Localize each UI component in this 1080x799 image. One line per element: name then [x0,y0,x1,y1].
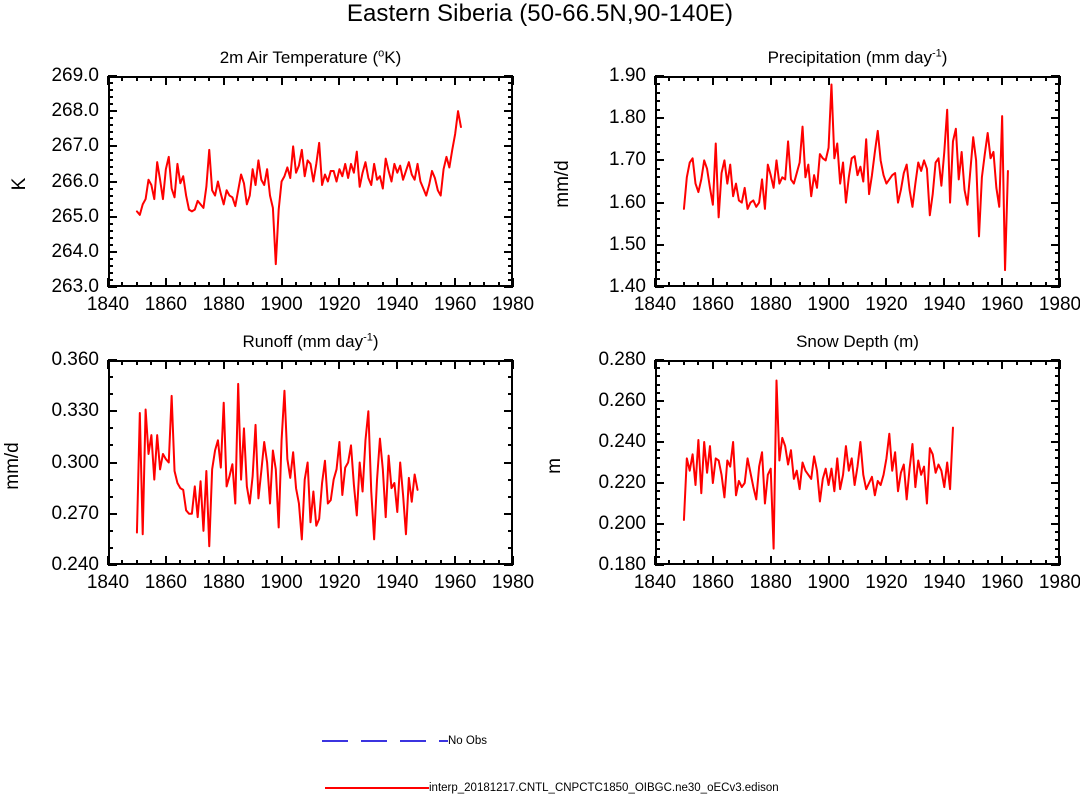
y-tick-minor [108,237,113,239]
x-tick-label: 1920 [318,294,360,316]
x-tick-major [454,278,456,287]
x-tick-minor [121,360,123,365]
x-tick-minor [958,360,960,365]
y-tick-label: 264.0 [51,241,99,263]
x-tick-minor [208,360,210,365]
y-tick-minor [655,466,660,468]
x-tick-minor [121,560,123,565]
x-tick-minor [469,282,471,287]
y-tick-minor [108,124,113,126]
x-tick-major [828,556,830,565]
x-tick-minor [382,360,384,365]
x-tick-minor [353,560,355,565]
x-tick-minor [813,282,815,287]
x-tick-major [770,76,772,85]
x-tick-minor [900,360,902,365]
y-tick-minor [1055,515,1060,517]
x-tick-major [454,76,456,85]
x-tick-minor [469,76,471,81]
x-tick-minor [483,282,485,287]
x-tick-minor [266,76,268,81]
y-tick-minor [508,103,513,105]
y-tick-minor [508,124,513,126]
panel-title-snow-depth: Snow Depth (m) [655,332,1060,352]
x-tick-minor [136,560,138,565]
x-tick-label: 1860 [692,572,734,594]
y-tick-minor [1055,143,1060,145]
x-tick-minor [150,282,152,287]
y-tick-minor [655,235,660,237]
y-tick-minor [508,444,513,446]
y-tick-minor [508,117,513,119]
x-tick-label: 1960 [434,294,476,316]
y-tick-label: 1.70 [609,149,646,171]
x-tick-major [885,556,887,565]
x-tick-minor [425,282,427,287]
y-tick-minor [1055,193,1060,195]
x-tick-minor [668,282,670,287]
y-tick-minor [655,449,660,451]
x-tick-minor [295,76,297,81]
legend-entry-no-obs: No Obs [322,735,487,747]
y-tick-minor [508,258,513,260]
y-tick-minor [655,210,660,212]
y-tick-minor [655,252,660,254]
y-tick-minor [508,159,513,161]
x-tick-minor [900,282,902,287]
x-tick-minor [310,360,312,365]
y-tick-minor [1055,168,1060,170]
x-tick-label: 1900 [260,294,302,316]
y-tick-minor [655,392,660,394]
x-tick-label: 1960 [981,572,1023,594]
x-tick-major [712,76,714,85]
y-tick-major [655,482,664,484]
y-tick-minor [1055,392,1060,394]
x-tick-major [165,360,167,369]
x-tick-minor [324,76,326,81]
x-tick-minor [150,560,152,565]
x-tick-minor [900,560,902,565]
x-tick-minor [498,360,500,365]
x-tick-minor [987,282,989,287]
x-tick-minor [1016,560,1018,565]
y-tick-minor [1055,449,1060,451]
y-tick-major [108,359,117,361]
x-tick-label: 1900 [807,294,849,316]
y-tick-minor [1055,100,1060,102]
x-tick-minor [784,76,786,81]
y-tick-minor [508,202,513,204]
y-tick-minor [655,457,660,459]
y-tick-major [655,286,664,288]
x-tick-minor [150,76,152,81]
y-tick-label: 0.300 [51,452,99,474]
panel-precipitation: Precipitation (mm day-1) 1.401.501.601.7… [655,76,1060,287]
x-tick-minor [842,282,844,287]
y-tick-label: 0.240 [598,431,646,453]
x-tick-minor [914,76,916,81]
y-tick-minor [655,193,660,195]
y-tick-minor [655,531,660,533]
x-tick-minor [150,360,152,365]
y-tick-minor [508,393,513,395]
y-tick-minor [655,134,660,136]
y-tick-major [1051,202,1060,204]
y-tick-minor [1055,466,1060,468]
y-tick-major [504,410,513,412]
x-tick-minor [1016,360,1018,365]
y-tick-major [108,145,117,147]
y-tick-minor [108,159,113,161]
y-tick-minor [655,490,660,492]
x-tick-minor [440,560,442,565]
x-tick-minor [799,282,801,287]
y-tick-minor [655,408,660,410]
x-tick-minor [972,560,974,565]
x-tick-major [338,76,340,85]
y-tick-minor [655,100,660,102]
x-tick-major [396,76,398,85]
x-tick-minor [237,76,239,81]
legend-dash-no-obs-2 [361,740,387,742]
figure-root: Eastern Siberia (50-66.5N,90-140E) 2m Ai… [0,0,1080,799]
y-tick-minor [1055,531,1060,533]
y-tick-minor [655,548,660,550]
x-tick-major [828,360,830,369]
y-tick-minor [108,393,113,395]
x-tick-minor [871,76,873,81]
x-tick-minor [958,282,960,287]
x-tick-minor [741,76,743,81]
y-tick-minor [508,272,513,274]
x-tick-minor [1045,360,1047,365]
x-tick-major [107,556,109,565]
y-tick-label: 0.270 [51,503,99,525]
y-tick-minor [508,427,513,429]
y-tick-label: 265.0 [51,206,99,228]
y-tick-minor [1055,218,1060,220]
x-tick-major [512,76,514,85]
x-tick-minor [697,360,699,365]
x-tick-major [223,76,225,85]
y-tick-label: 0.360 [51,349,99,371]
x-tick-minor [929,282,931,287]
y-tick-major [108,286,117,288]
x-tick-minor [208,282,210,287]
x-tick-major [1059,360,1061,369]
x-tick-minor [958,560,960,565]
y-tick-major [504,216,513,218]
legend-line-model-run [325,787,429,789]
x-tick-minor [987,560,989,565]
y-tick-minor [508,223,513,225]
x-tick-label: 1840 [634,294,676,316]
x-tick-minor [755,360,757,365]
x-tick-major [943,76,945,85]
x-tick-minor [842,560,844,565]
x-tick-major [770,278,772,287]
x-tick-major [1059,76,1061,85]
x-tick-minor [411,560,413,565]
y-tick-minor [1055,261,1060,263]
x-tick-label: 1980 [1039,572,1080,594]
y-tick-minor [1055,416,1060,418]
y-tick-label: 0.280 [598,349,646,371]
y-tick-label: 0.330 [51,400,99,422]
x-tick-minor [440,282,442,287]
figure-title: Eastern Siberia (50-66.5N,90-140E) [0,0,1080,28]
x-tick-minor [972,360,974,365]
x-tick-minor [784,360,786,365]
x-tick-label: 1960 [981,294,1023,316]
x-tick-minor [1030,360,1032,365]
panel-runoff: Runoff (mm day-1) 0.2400.2700.3000.3300.… [108,360,513,565]
y-tick-minor [108,96,113,98]
y-tick-minor [655,474,660,476]
y-tick-major [108,410,117,412]
y-tick-minor [508,530,513,532]
y-tick-major [655,202,664,204]
y-tick-minor [108,103,113,105]
x-tick-minor [194,282,196,287]
x-tick-major [1059,278,1061,287]
axis-label-runoff: mm/d [2,431,24,501]
y-tick-minor [108,89,113,91]
y-tick-minor [655,416,660,418]
x-tick-minor [252,360,254,365]
y-tick-minor [108,530,113,532]
x-tick-major [712,360,714,369]
x-tick-major [828,76,830,85]
x-tick-major [512,360,514,369]
x-tick-major [885,278,887,287]
y-tick-minor [655,539,660,541]
x-tick-minor [121,282,123,287]
x-tick-major [885,360,887,369]
x-tick-minor [842,360,844,365]
y-tick-minor [655,498,660,500]
x-tick-minor [683,282,685,287]
y-tick-major [655,244,664,246]
y-tick-minor [108,223,113,225]
x-tick-major [1001,556,1003,565]
x-tick-minor [857,282,859,287]
x-tick-major [454,360,456,369]
x-tick-minor [411,360,413,365]
y-tick-label: 1.60 [609,192,646,214]
x-tick-minor [668,76,670,81]
x-tick-minor [914,360,916,365]
x-tick-minor [683,360,685,365]
x-tick-minor [483,560,485,565]
y-tick-minor [508,138,513,140]
y-tick-major [1051,523,1060,525]
x-tick-minor [353,282,355,287]
y-tick-minor [108,131,113,133]
x-tick-minor [726,282,728,287]
x-tick-label: 1960 [434,572,476,594]
x-tick-minor [295,282,297,287]
y-tick-minor [108,376,113,378]
y-tick-minor [1055,474,1060,476]
axis-label-air-temperature: K [9,154,31,214]
x-tick-minor [1030,282,1032,287]
y-tick-minor [508,496,513,498]
x-tick-minor [1045,76,1047,81]
y-tick-minor [108,427,113,429]
y-tick-major [1051,117,1060,119]
x-tick-minor [179,360,181,365]
y-tick-major [108,181,117,183]
x-tick-minor [668,360,670,365]
y-tick-minor [655,176,660,178]
x-tick-minor [741,282,743,287]
x-tick-minor [382,76,384,81]
x-tick-minor [310,560,312,565]
x-tick-minor [310,76,312,81]
y-tick-minor [655,151,660,153]
x-tick-major [338,360,340,369]
x-tick-minor [914,560,916,565]
x-tick-minor [498,76,500,81]
x-tick-minor [208,560,210,565]
y-tick-minor [108,479,113,481]
x-tick-minor [411,282,413,287]
y-tick-minor [655,185,660,187]
x-tick-major [338,556,340,565]
x-tick-minor [324,360,326,365]
y-tick-major [504,145,513,147]
x-tick-label: 1840 [634,572,676,594]
x-tick-major [654,278,656,287]
x-tick-minor [367,360,369,365]
y-tick-minor [108,202,113,204]
y-tick-minor [1055,252,1060,254]
y-tick-minor [108,547,113,549]
y-tick-major [1051,400,1060,402]
y-tick-minor [108,173,113,175]
y-tick-minor [1055,210,1060,212]
x-tick-major [165,76,167,85]
x-tick-minor [252,282,254,287]
x-tick-minor [726,76,728,81]
x-tick-label: 1980 [492,572,534,594]
x-tick-label: 1940 [923,572,965,594]
x-tick-major [943,278,945,287]
x-tick-minor [353,360,355,365]
x-tick-minor [469,360,471,365]
data-line [137,111,461,264]
x-tick-minor [483,76,485,81]
x-tick-minor [871,560,873,565]
x-tick-major [512,556,514,565]
x-tick-minor [914,282,916,287]
y-tick-minor [508,188,513,190]
y-tick-minor [1055,269,1060,271]
x-tick-minor [237,360,239,365]
y-tick-minor [508,166,513,168]
x-tick-minor [310,282,312,287]
x-tick-minor [929,360,931,365]
y-tick-minor [1055,384,1060,386]
y-tick-minor [508,265,513,267]
y-tick-minor [108,209,113,211]
x-tick-minor [842,76,844,81]
x-tick-minor [755,76,757,81]
x-tick-minor [121,76,123,81]
x-tick-minor [411,76,413,81]
panel-title-runoff: Runoff (mm day-1) [108,332,513,352]
y-tick-minor [508,89,513,91]
y-tick-minor [1055,507,1060,509]
y-tick-major [655,564,664,566]
x-tick-minor [136,360,138,365]
x-tick-minor [208,76,210,81]
x-tick-label: 1840 [87,572,129,594]
y-tick-minor [108,152,113,154]
x-tick-label: 1940 [376,294,418,316]
series-line-air-temperature [108,76,513,287]
y-tick-major [1051,244,1060,246]
x-tick-minor [857,560,859,565]
y-tick-minor [1055,433,1060,435]
x-tick-major [223,360,225,369]
x-tick-label: 1860 [145,294,187,316]
x-tick-minor [726,360,728,365]
y-tick-minor [1055,490,1060,492]
legend-label-model-run: interp_20181217.CNTL_CNPCTC1850_OIBGC.ne… [429,782,779,794]
x-tick-label: 1920 [865,572,907,594]
x-tick-minor [857,360,859,365]
y-tick-major [504,181,513,183]
y-tick-minor [655,425,660,427]
y-tick-minor [508,479,513,481]
x-tick-minor [266,360,268,365]
x-tick-minor [683,560,685,565]
y-tick-major [504,462,513,464]
y-tick-major [1051,159,1060,161]
data-line [684,84,1008,270]
y-tick-minor [108,195,113,197]
x-tick-minor [367,560,369,565]
x-tick-minor [237,282,239,287]
x-tick-minor [266,560,268,565]
panel-air-temperature: 2m Air Temperature (oK) 263.0264.0265.02… [108,76,513,287]
x-tick-minor [295,560,297,565]
x-tick-major [396,360,398,369]
y-tick-minor [108,244,113,246]
x-tick-minor [498,282,500,287]
x-tick-minor [194,360,196,365]
x-tick-major [885,76,887,85]
x-tick-minor [1030,76,1032,81]
y-tick-minor [655,92,660,94]
x-tick-minor [353,76,355,81]
y-tick-minor [1055,92,1060,94]
y-tick-minor [108,166,113,168]
x-tick-minor [252,560,254,565]
y-tick-major [504,513,513,515]
y-tick-minor [655,168,660,170]
y-tick-minor [1055,498,1060,500]
y-tick-major [108,251,117,253]
x-tick-label: 1880 [750,572,792,594]
y-tick-minor [655,109,660,111]
y-tick-minor [655,375,660,377]
y-tick-minor [655,433,660,435]
x-tick-label: 1980 [492,294,534,316]
